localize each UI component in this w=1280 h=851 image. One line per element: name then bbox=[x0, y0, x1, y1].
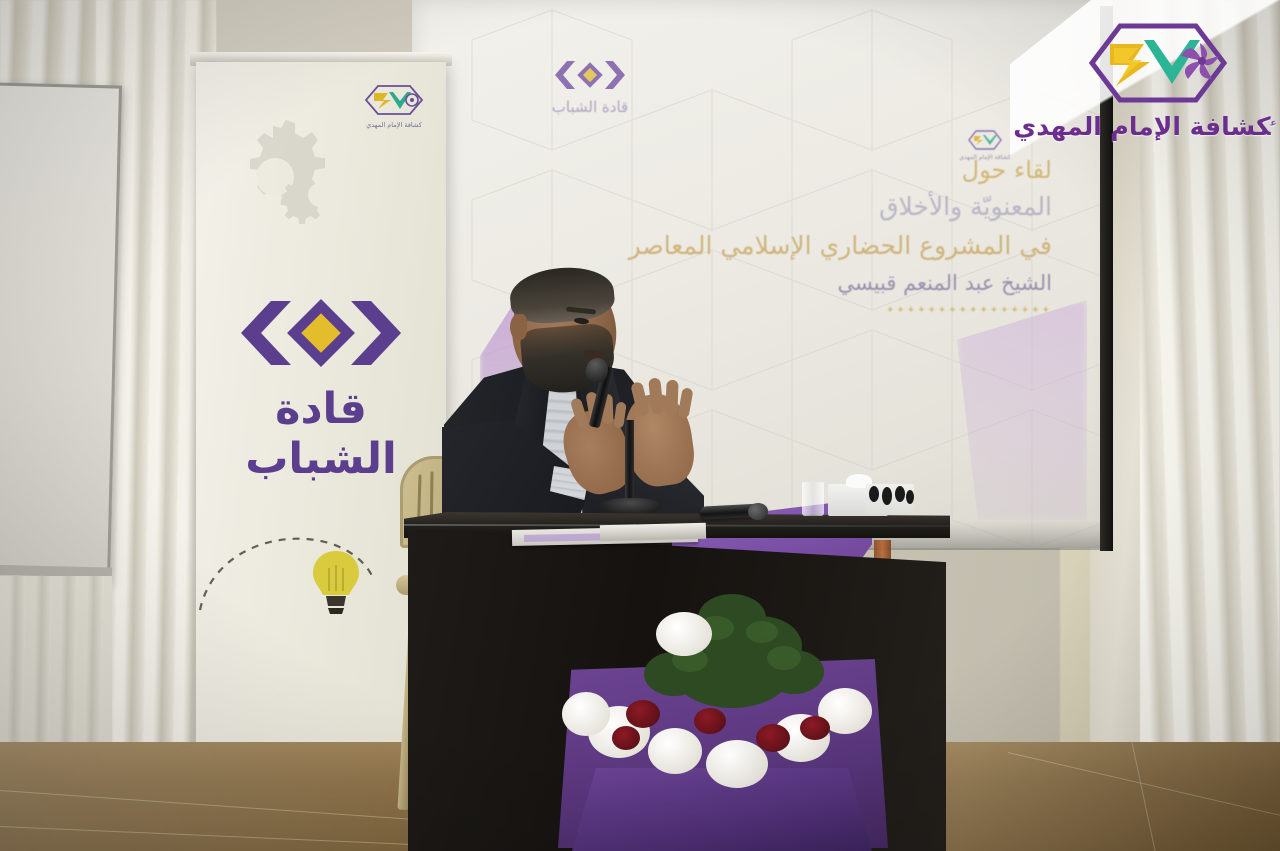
slide-line-2: المعنويّة والأخلاق bbox=[629, 188, 1052, 227]
whiteboard-skirt bbox=[0, 576, 112, 754]
banner-brand-label: قادة الشباب bbox=[206, 384, 436, 484]
speaker-finger-r4 bbox=[677, 387, 693, 418]
water-glass bbox=[802, 482, 824, 516]
banner-top-logo: كشافة الإمام المهدي bbox=[352, 84, 436, 129]
flower-red-3 bbox=[756, 724, 790, 752]
speaker-finger-r3 bbox=[665, 380, 678, 414]
flower-red-4 bbox=[800, 716, 830, 740]
slide-line-1: لقاء حول bbox=[629, 152, 1052, 188]
banner-brand: قادة الشباب bbox=[206, 296, 436, 484]
slide-logo-label: قادة الشباب bbox=[520, 98, 660, 116]
whiteboard bbox=[0, 82, 122, 581]
flower-red-1 bbox=[626, 700, 660, 728]
flower-white-4 bbox=[706, 740, 768, 788]
speaker-ear bbox=[510, 314, 527, 340]
flower-white-7 bbox=[562, 692, 610, 736]
youth-leaders-logo-mark bbox=[551, 58, 629, 92]
speaker-person bbox=[438, 270, 738, 550]
book bbox=[600, 523, 706, 542]
flower-white-3 bbox=[648, 728, 702, 774]
flower-red-2 bbox=[694, 708, 726, 734]
slide-logo: قادة الشباب bbox=[520, 58, 660, 116]
tissue-pattern-icon bbox=[866, 484, 914, 514]
screen-frame-right bbox=[1100, 6, 1113, 551]
youth-leaders-chevron-diamond-icon bbox=[233, 296, 409, 370]
microphone-stem bbox=[625, 420, 634, 504]
event-photo: قادة الشباب كشافة الإمام المهدي لقاء حول… bbox=[0, 0, 1280, 851]
flower-red-5 bbox=[612, 726, 640, 750]
gear-graphic bbox=[218, 120, 368, 250]
microphone-base bbox=[600, 498, 662, 514]
slide-line-3: في المشروع الحضاري الإسلامي المعاصر bbox=[629, 227, 1052, 266]
speaker-finger-r2 bbox=[648, 377, 664, 414]
banner-top-logo-label: كشافة الإمام المهدي bbox=[352, 121, 436, 129]
scouts-logo-icon bbox=[364, 84, 424, 116]
lightbulb-icon bbox=[310, 548, 362, 620]
scouts-logo-small-icon bbox=[968, 130, 1002, 150]
curtain-right bbox=[1140, 0, 1280, 790]
flower-white-1 bbox=[656, 612, 712, 656]
tissue-box-pattern bbox=[866, 484, 914, 514]
